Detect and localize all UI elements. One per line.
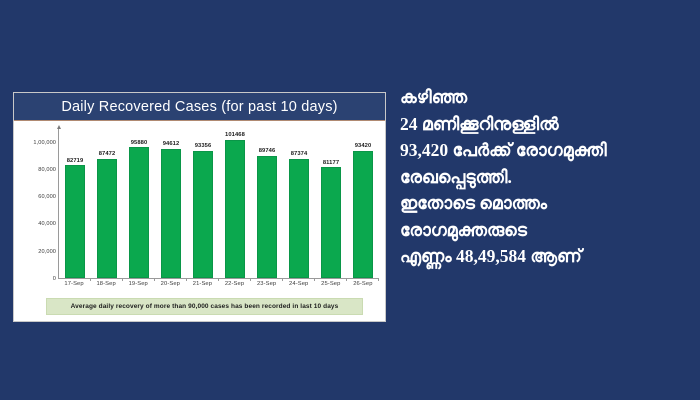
chart-plot-wrapper: 020,00040,00060,00080,0001,00,000 827198…: [14, 121, 385, 321]
news-text-line: രേഖപ്പെടുത്തി.: [400, 164, 692, 191]
bar-item[interactable]: 101468: [219, 129, 251, 278]
news-text-line: എണ്ണം 48,49,584 ആണ്: [400, 243, 692, 270]
x-axis-tick-label: 26-Sep: [347, 281, 379, 287]
x-axis-tick-label: 25-Sep: [315, 281, 347, 287]
x-axis-tick-label: 22-Sep: [218, 281, 250, 287]
bar-item[interactable]: 93356: [187, 129, 219, 278]
bar-rectangle[interactable]: [129, 147, 148, 278]
y-axis-tick-label: 40,000: [38, 221, 56, 227]
news-text-line: രോഗമുക്തരുടെ: [400, 217, 692, 244]
bar-item[interactable]: 89746: [251, 129, 283, 278]
bar-value-label: 93356: [195, 143, 212, 149]
y-axis-tick-label: 1,00,000: [33, 140, 56, 146]
bar-rectangle[interactable]: [353, 151, 372, 278]
x-axis: 17-Sep18-Sep19-Sep20-Sep21-Sep22-Sep23-S…: [58, 281, 379, 287]
bar-value-label: 87472: [99, 151, 116, 157]
news-text-line: 24 മണിക്കൂറിനുള്ളിൽ: [400, 111, 692, 138]
bar-rectangle[interactable]: [65, 165, 84, 278]
news-text-line: കഴിഞ്ഞ: [400, 84, 692, 111]
bar-series: 8271987472958809461293356101468897468737…: [59, 129, 379, 278]
x-axis-tick-label: 17-Sep: [58, 281, 90, 287]
chart-caption: Average daily recovery of more than 90,0…: [46, 298, 363, 315]
bar-value-label: 81177: [323, 160, 339, 166]
bar-rectangle[interactable]: [289, 159, 308, 278]
y-axis-tick-label: 80,000: [38, 167, 56, 173]
bar-item[interactable]: 94612: [155, 129, 187, 278]
news-text-block: കഴിഞ്ഞ24 മണിക്കൂറിനുള്ളിൽ93,420 പേർക്ക് …: [400, 84, 692, 270]
bar-value-label: 87374: [291, 151, 308, 157]
bar-value-label: 93420: [355, 143, 372, 149]
y-axis-tick-label: 0: [53, 276, 56, 282]
bar-rectangle[interactable]: [161, 149, 180, 278]
bar-rectangle[interactable]: [225, 140, 244, 278]
bar-rectangle[interactable]: [321, 167, 340, 278]
bar-item[interactable]: 87374: [283, 129, 315, 278]
news-text-line: ഇതോടെ മൊത്തം: [400, 190, 692, 217]
x-axis-tick-label: 19-Sep: [122, 281, 154, 287]
x-axis-tick-label: 21-Sep: [186, 281, 218, 287]
x-axis-tick-label: 18-Sep: [90, 281, 122, 287]
x-axis-tick-label: 23-Sep: [251, 281, 283, 287]
bar-item[interactable]: 93420: [347, 129, 379, 278]
news-text-line: 93,420 പേർക്ക് രോഗമുക്തി: [400, 137, 692, 164]
chart-title-band: Daily Recovered Cases (for past 10 days): [14, 93, 385, 121]
bar-rectangle[interactable]: [97, 159, 116, 278]
bar-value-label: 94612: [163, 141, 180, 147]
y-axis: 020,00040,00060,00080,0001,00,000: [16, 129, 56, 279]
bar-value-label: 89746: [259, 148, 276, 154]
y-axis-tick-label: 60,000: [38, 194, 56, 200]
infographic-canvas: Daily Recovered Cases (for past 10 days)…: [0, 0, 700, 400]
chart-card: Daily Recovered Cases (for past 10 days)…: [13, 92, 386, 322]
plot-area: 8271987472958809461293356101468897468737…: [58, 129, 379, 279]
bar-value-label: 82719: [67, 158, 84, 164]
y-axis-tick-label: 20,000: [38, 249, 56, 255]
bar-item[interactable]: 81177: [315, 129, 347, 278]
x-axis-tick-label: 20-Sep: [154, 281, 186, 287]
bar-value-label: 95880: [131, 140, 148, 146]
x-axis-tick-label: 24-Sep: [283, 281, 315, 287]
bar-rectangle[interactable]: [193, 151, 212, 278]
bar-item[interactable]: 87472: [91, 129, 123, 278]
chart-title: Daily Recovered Cases (for past 10 days): [61, 99, 337, 115]
bar-rectangle[interactable]: [257, 156, 276, 278]
bar-item[interactable]: 95880: [123, 129, 155, 278]
bar-item[interactable]: 82719: [59, 129, 91, 278]
bar-value-label: 101468: [225, 132, 245, 138]
